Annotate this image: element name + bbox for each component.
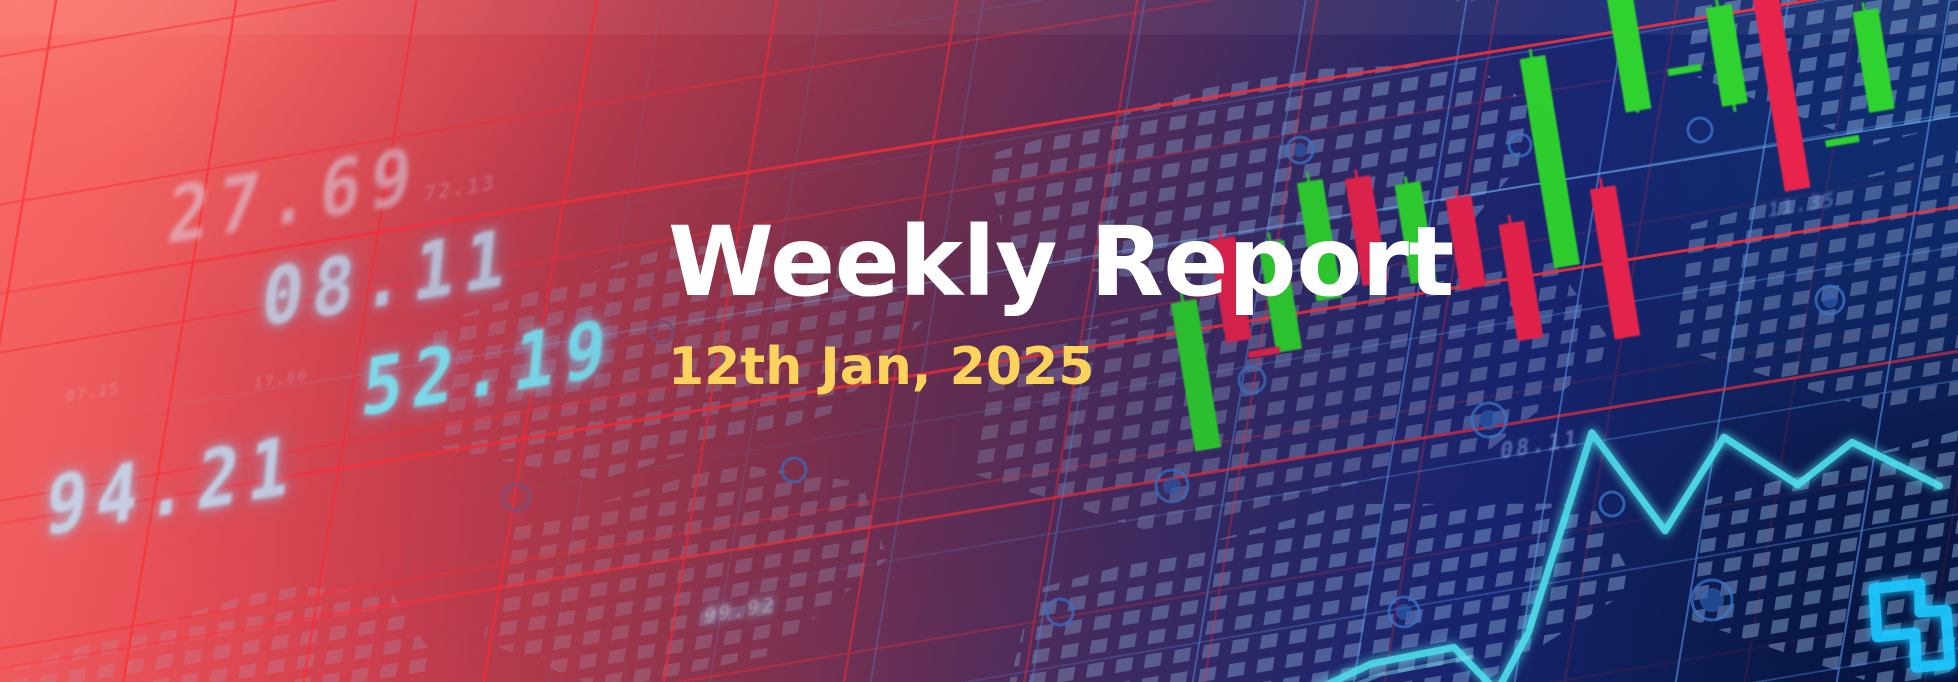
page-title: Weekly Report	[668, 212, 1454, 313]
weekly-report-banner: 27.69 08.11 52.19 94.21 72.13 07.15 17.6…	[0, 0, 1958, 682]
report-date: 12th Jan, 2025	[668, 313, 1454, 396]
headline-block: Weekly Report 12th Jan, 2025	[668, 212, 1454, 396]
